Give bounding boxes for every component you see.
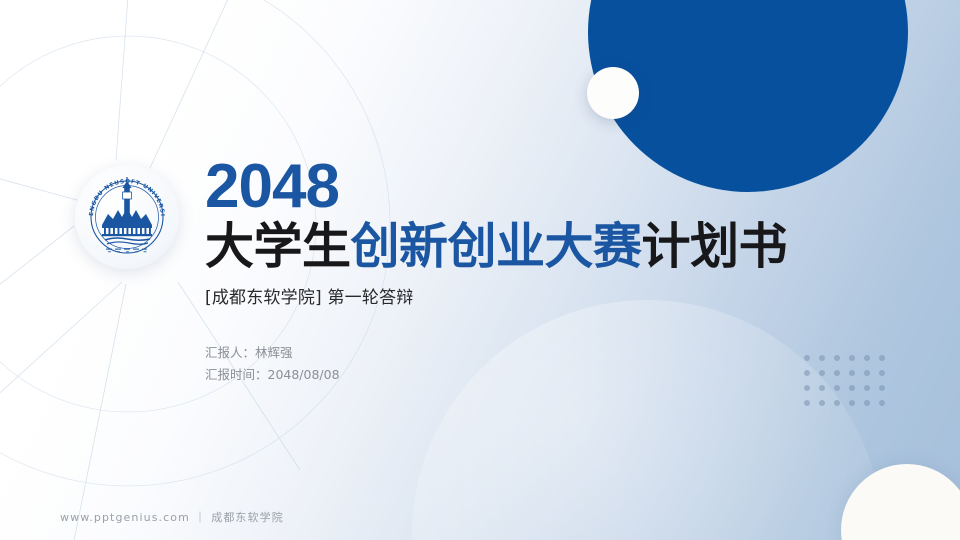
title-segment-3: 计划书 xyxy=(642,218,788,275)
presentation-slide: CHENGDU NEUSOFT UNIVERSITY xyxy=(0,0,960,540)
title-block: 2048 大学生创新创业大赛计划书 [成都东软学院] 第一轮答辩 汇报人：林辉强… xyxy=(205,158,825,386)
decorative-white-dot xyxy=(587,67,639,119)
date-line: 汇报时间：2048/08/08 xyxy=(205,364,825,386)
presentation-meta: 汇报人：林辉强 汇报时间：2048/08/08 xyxy=(205,342,825,386)
page-title: 大学生创新创业大赛计划书 xyxy=(205,221,825,272)
university-logo: CHENGDU NEUSOFT UNIVERSITY xyxy=(75,165,179,269)
subtitle: [成都东软学院] 第一轮答辩 xyxy=(205,283,825,308)
year-heading: 2048 xyxy=(205,158,825,217)
title-segment-2-highlight: 创新创业大赛 xyxy=(351,218,642,275)
presenter-line: 汇报人：林辉强 xyxy=(205,342,825,364)
title-segment-1: 大学生 xyxy=(205,218,351,275)
footer-credit: www.pptgenius.com ｜ 成都东软学院 xyxy=(60,509,284,525)
svg-text:CHENGDU NEUSOFT UNIVERSITY: CHENGDU NEUSOFT UNIVERSITY xyxy=(75,165,165,217)
university-seal-icon: CHENGDU NEUSOFT UNIVERSITY xyxy=(75,165,179,269)
